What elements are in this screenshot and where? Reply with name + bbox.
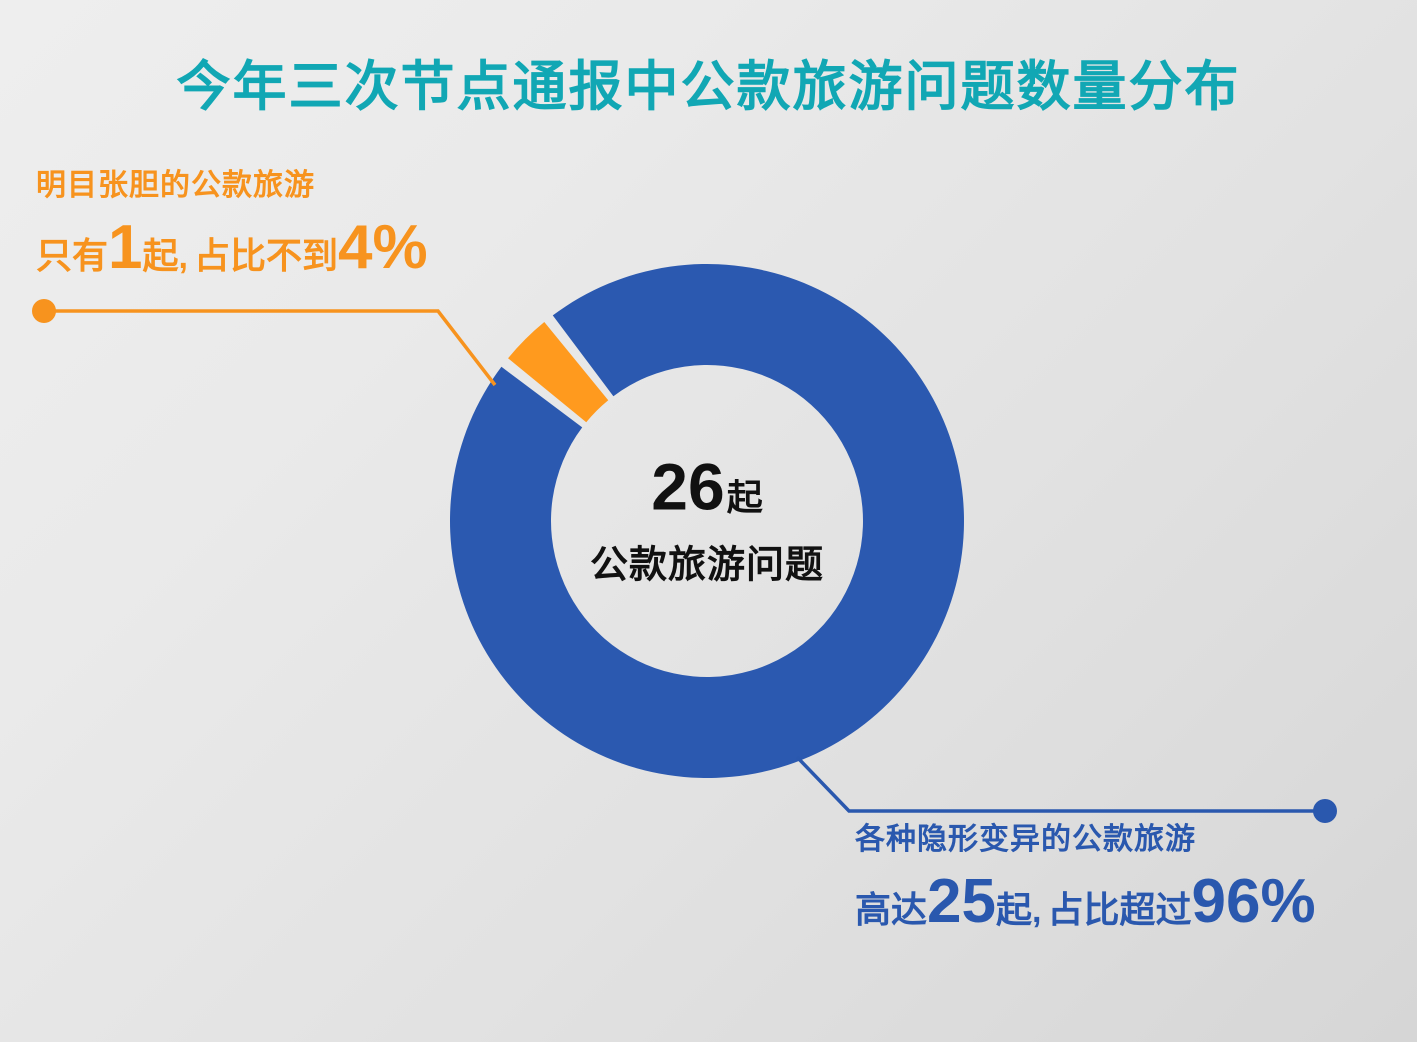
infographic-canvas: 今年三次节点通报中公款旅游问题数量分布 26起 公款旅游问题 明目张胆的公款旅游…	[0, 0, 1417, 1042]
callout-blatant-travel: 明目张胆的公款旅游 只有 1 起 , 占比不到 4 %	[36, 168, 428, 276]
callout-orange-percent: 4	[338, 220, 372, 276]
leader-line-orange	[48, 311, 495, 385]
callout-orange-percent-symbol: %	[372, 220, 427, 276]
callout-blue-heading: 各种隐形变异的公款旅游	[855, 822, 1316, 858]
callout-orange-middle: 占比不到	[194, 238, 338, 274]
callout-blue-stat: 高达 25 起 , 占比超过 96 %	[855, 874, 1316, 930]
callout-orange-separator: ,	[179, 240, 188, 274]
callout-blue-unit: 起	[996, 892, 1032, 928]
callout-blue-percent: 96	[1191, 874, 1260, 930]
leader-line-blue	[797, 757, 1320, 811]
callout-orange-value: 1	[108, 220, 142, 276]
callout-orange-unit: 起	[143, 238, 179, 274]
callout-blue-middle: 占比超过	[1047, 892, 1191, 928]
callout-blue-value: 25	[927, 874, 996, 930]
callout-blue-separator: ,	[1032, 894, 1041, 928]
callout-blue-prefix: 高达	[855, 892, 927, 928]
callout-orange-stat: 只有 1 起 , 占比不到 4 %	[36, 220, 428, 276]
callout-orange-prefix: 只有	[36, 238, 108, 274]
callout-hidden-travel: 各种隐形变异的公款旅游 高达 25 起 , 占比超过 96 %	[855, 822, 1316, 930]
callout-orange-heading: 明目张胆的公款旅游	[36, 168, 428, 204]
leader-dot-blue	[1313, 799, 1337, 823]
leader-dot-orange	[32, 299, 56, 323]
callout-blue-percent-symbol: %	[1260, 874, 1315, 930]
